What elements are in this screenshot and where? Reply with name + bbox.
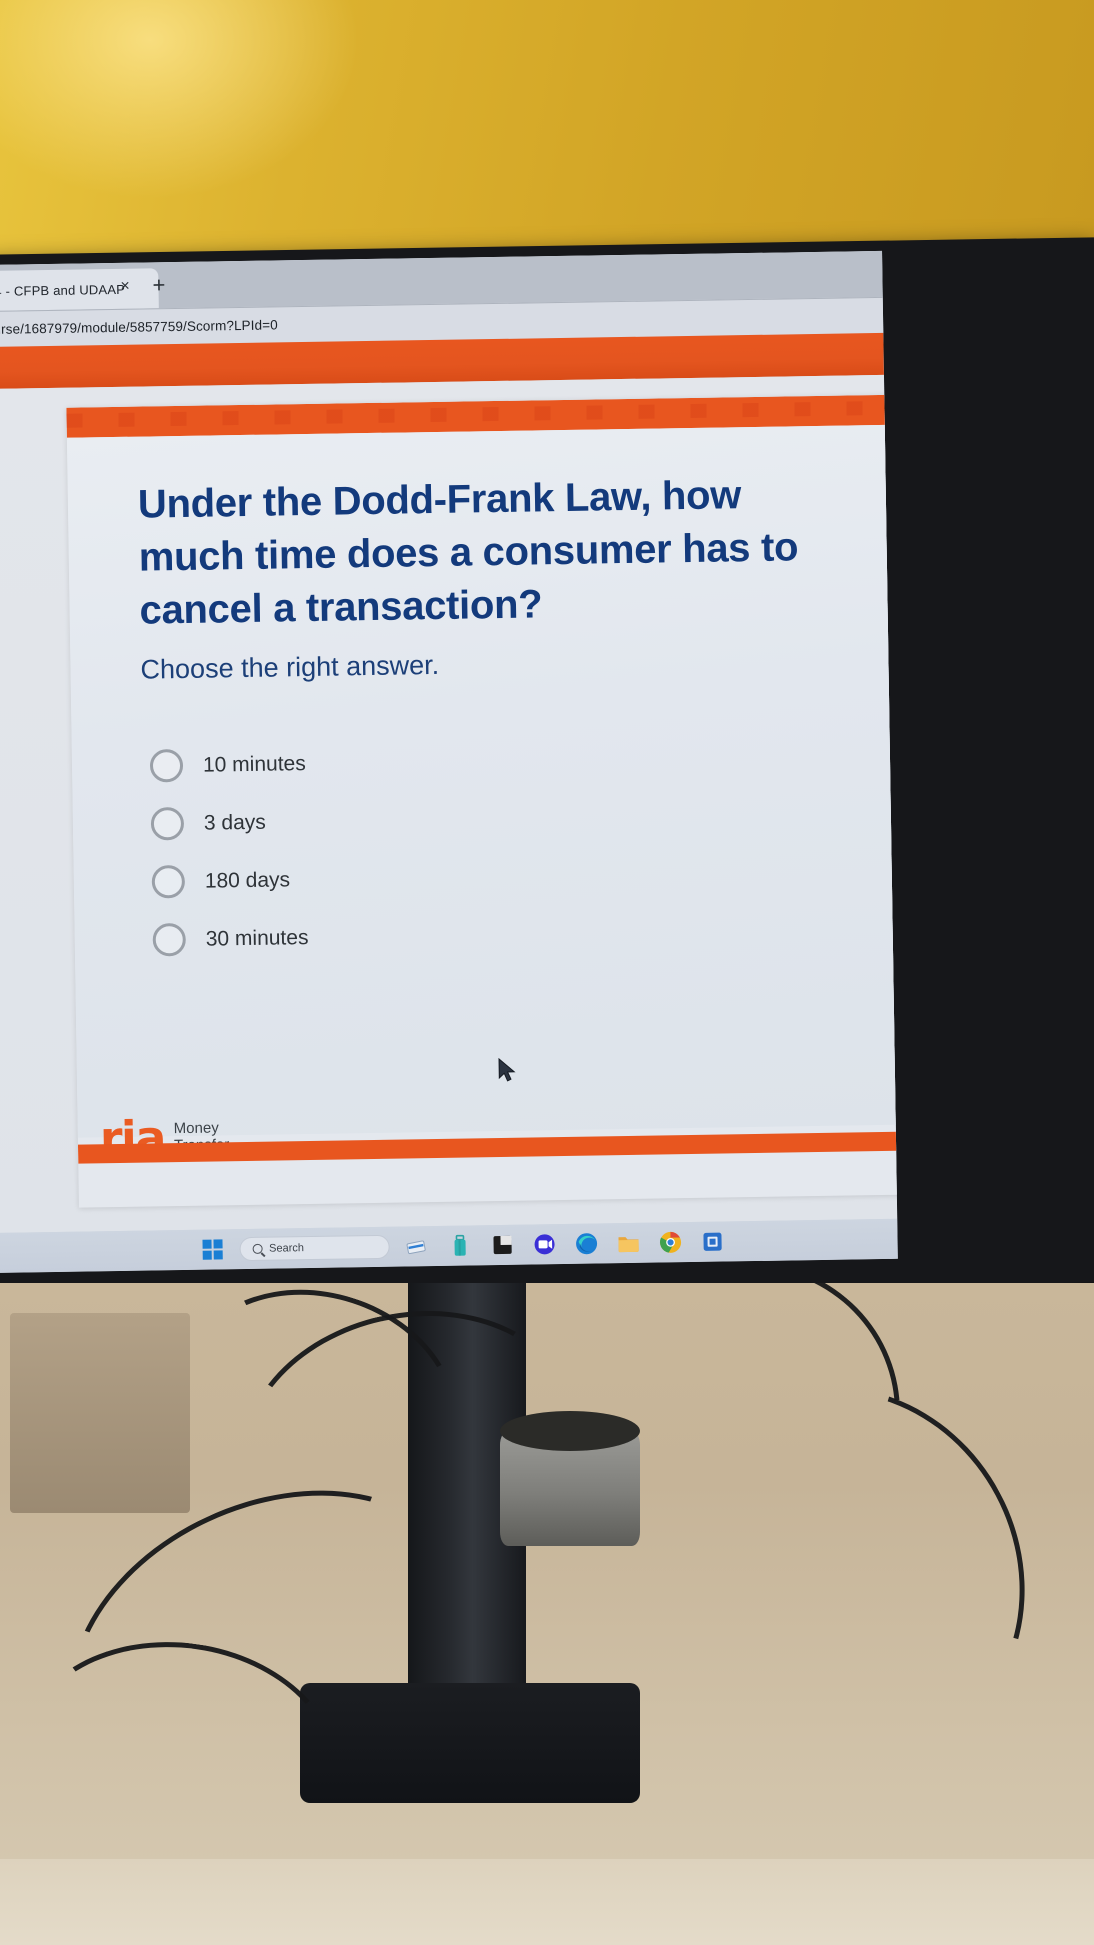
browser-tab-title: ule 4 - CFPB and UDAAP (0, 281, 125, 298)
search-placeholder-label: Search (269, 1242, 304, 1255)
black-square-app-icon[interactable] (489, 1232, 515, 1258)
file-explorer-icon[interactable] (615, 1230, 641, 1256)
answer-option-label: 30 minutes (206, 926, 309, 952)
radio-button-icon[interactable] (151, 807, 185, 841)
room-wall (0, 0, 1094, 270)
photo-of-monitor-scene: ule 4 - CFPB and UDAAP × + /course/16879… (0, 0, 1094, 1945)
edge-browser-icon[interactable] (573, 1230, 599, 1256)
logo-tagline-line1: Money (174, 1120, 219, 1138)
browser-tab[interactable]: ule 4 - CFPB and UDAAP (0, 268, 159, 311)
answer-option-label: 3 days (204, 810, 266, 835)
slide-body: Under the Dodd-Frank Law, how much time … (67, 424, 898, 1138)
new-tab-icon[interactable]: + (152, 274, 165, 296)
teal-bag-icon[interactable] (447, 1232, 473, 1258)
question-subtitle: Choose the right answer. (140, 642, 898, 685)
answer-option-4[interactable]: 30 minutes (144, 899, 898, 969)
wallet-icon[interactable] (405, 1233, 431, 1259)
speaker-box (10, 1313, 190, 1513)
answer-options-list: 10 minutes 3 days 180 days 30 minut (142, 725, 898, 969)
browser-chrome: ule 4 - CFPB and UDAAP × + /course/16879… (0, 251, 883, 347)
question-title: Under the Dodd-Frank Law, how much time … (138, 468, 800, 638)
answer-option-label: 180 days (205, 868, 291, 893)
wall-light-glow (0, 0, 360, 200)
radio-button-icon[interactable] (153, 923, 187, 957)
search-icon (252, 1244, 262, 1254)
start-button-icon[interactable] (202, 1239, 223, 1260)
taskbar-icon-group: Search (202, 1229, 725, 1263)
radio-button-icon[interactable] (152, 865, 186, 899)
course-page-background: Under the Dodd-Frank Law, how much time … (0, 375, 897, 1233)
close-tab-icon[interactable]: × (120, 279, 130, 295)
radio-button-icon[interactable] (150, 749, 184, 783)
answer-option-label: 10 minutes (203, 752, 306, 778)
blue-app-icon[interactable] (699, 1229, 725, 1255)
address-bar-url: /course/1687979/module/5857759/Scorm?LPI… (0, 317, 278, 337)
taskbar-search-input[interactable]: Search (239, 1235, 389, 1261)
floor-surface (0, 1859, 1094, 1945)
scorm-slide-card: Under the Dodd-Frank Law, how much time … (66, 394, 897, 1208)
desk-and-floor-area (0, 1283, 1094, 1945)
video-call-icon[interactable] (531, 1231, 557, 1257)
chrome-browser-icon[interactable] (657, 1229, 683, 1255)
monitor-screen: ule 4 - CFPB and UDAAP × + /course/16879… (0, 251, 898, 1273)
